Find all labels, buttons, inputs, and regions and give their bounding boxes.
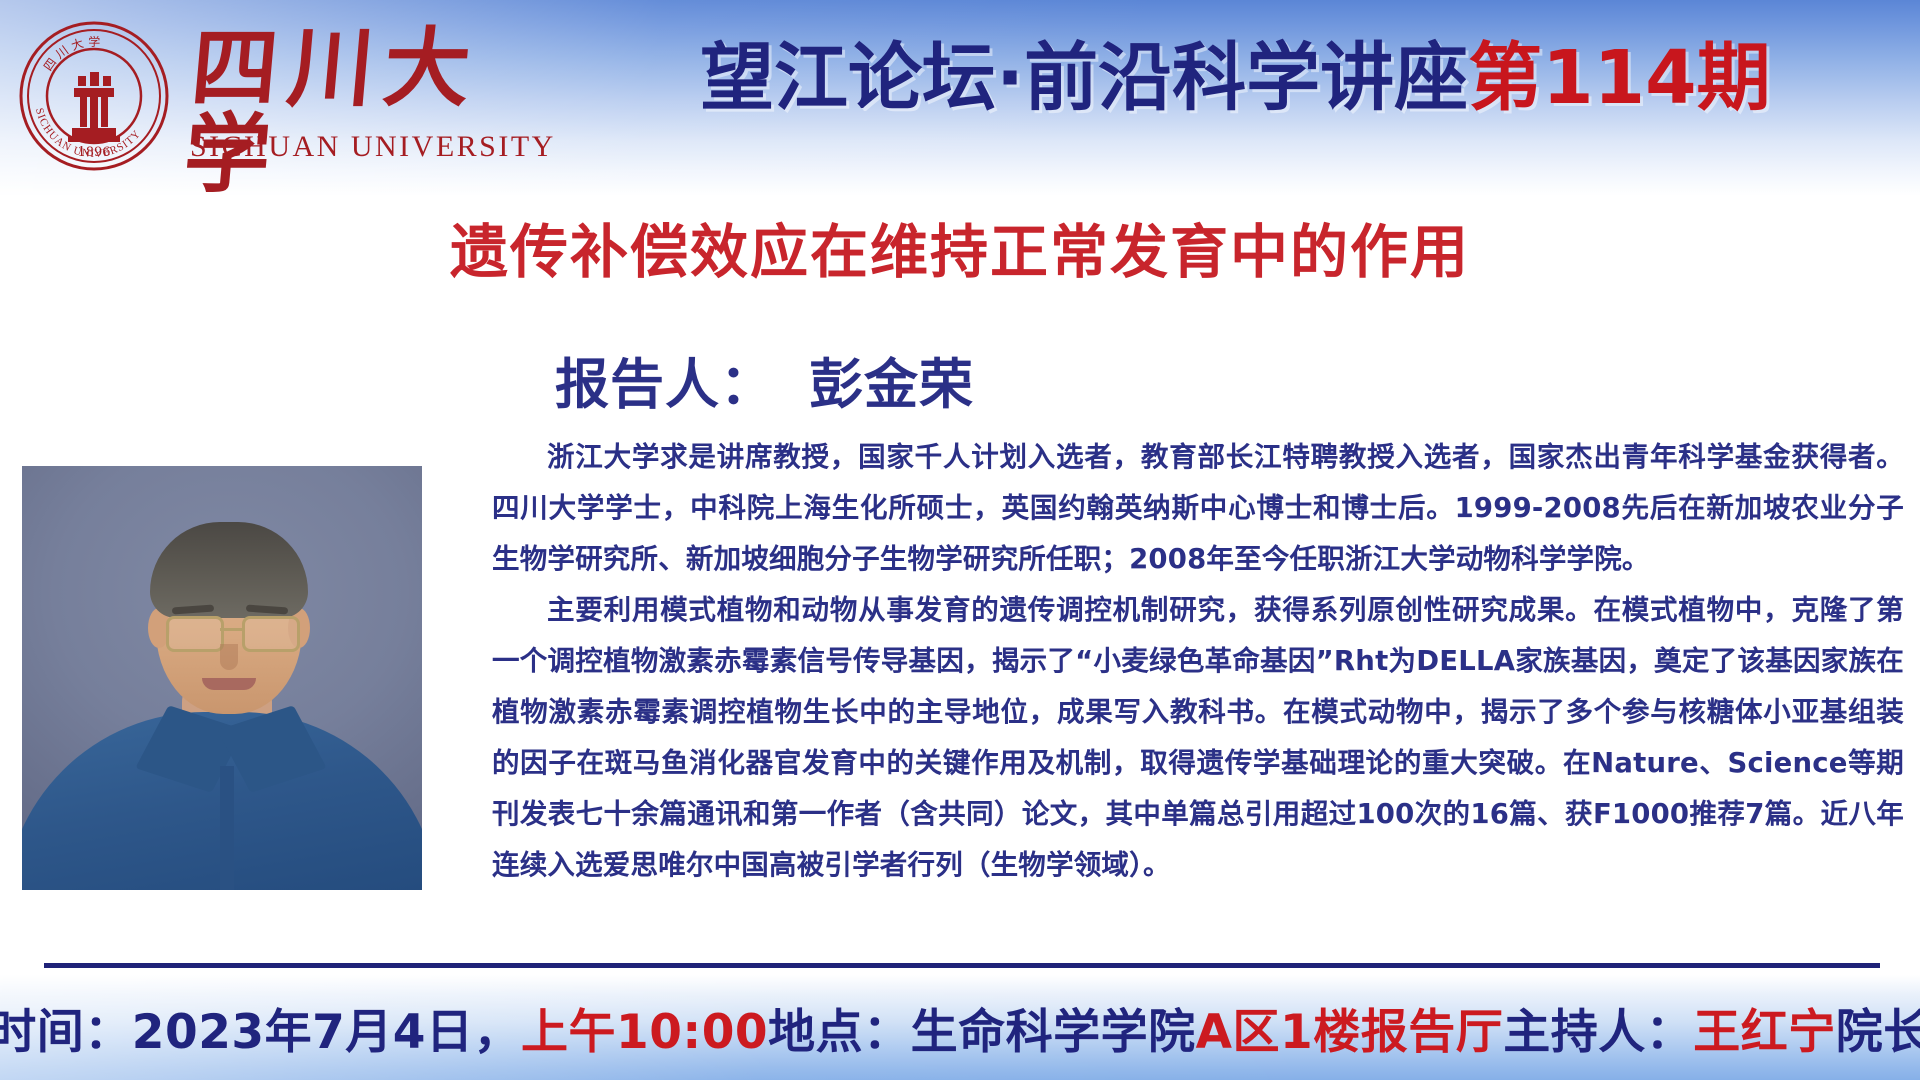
host-name: 王红宁: [1693, 993, 1836, 1062]
speaker-label: 报告人：: [555, 353, 775, 416]
portrait-glasses-icon: [164, 616, 296, 646]
banner-title-series: 望江论坛·前沿科学讲座: [700, 35, 1468, 121]
banner-title: 望江论坛·前沿科学讲座第114期: [700, 28, 1900, 128]
glasses-bridge: [220, 628, 244, 631]
place-room: A区1楼报告厅: [1196, 993, 1504, 1062]
host-label: 主持人：: [1503, 993, 1693, 1062]
time-clock: 上午10:00: [521, 993, 768, 1062]
speaker-name: 彭金荣: [809, 353, 974, 416]
glasses-lens-right: [242, 616, 300, 652]
speaker-biography: 浙江大学求是讲席教授，国家千人计划入选者，教育部长江特聘教授入选者，国家杰出青年…: [492, 432, 1904, 891]
footer-details: 时间：2023年7月4日，上午10:00地点：生命科学学院A区1楼报告厅主持人：…: [0, 975, 1920, 1080]
portrait-mouth: [202, 678, 256, 690]
logo-english-name: SICHUAN UNIVERSITY: [190, 130, 556, 164]
lecture-title: 遗传补偿效应在维持正常发育中的作用: [0, 205, 1920, 289]
banner-title-issue: 第114期: [1468, 35, 1770, 121]
bio-paragraph-2: 主要利用模式植物和动物从事发育的遗传调控机制研究，获得系列原创性研究成果。在模式…: [492, 585, 1904, 891]
portrait-shirt-placket: [220, 766, 234, 890]
sichuan-university-seal-icon: 1896 四 川 大 学 SICHUAN UNIVERSITY: [18, 20, 170, 172]
portrait-nose: [220, 644, 238, 670]
place-label: 地点：: [768, 993, 911, 1062]
glasses-lens-left: [166, 616, 224, 652]
logo-chinese-name: 四川大学: [180, 26, 565, 198]
svg-text:四 川 大 学: 四 川 大 学: [41, 34, 100, 73]
speaker-line: 报告人：彭金荣: [555, 340, 974, 419]
time-date: 2023年7月4日，: [132, 993, 521, 1062]
time-label: 时间：: [0, 993, 132, 1062]
footer-divider: [44, 963, 1880, 968]
host-title: 院长: [1836, 993, 1920, 1062]
place-name: 生命科学学院: [911, 993, 1196, 1062]
bio-paragraph-1: 浙江大学求是讲席教授，国家千人计划入选者，教育部长江特聘教授入选者，国家杰出青年…: [492, 432, 1904, 585]
speaker-portrait: [22, 466, 422, 890]
university-logo: 1896 四 川 大 学 SICHUAN UNIVERSITY 四川大学 SIC…: [18, 18, 558, 178]
lecture-poster: 1896 四 川 大 学 SICHUAN UNIVERSITY 四川大学 SIC…: [0, 0, 1920, 1080]
